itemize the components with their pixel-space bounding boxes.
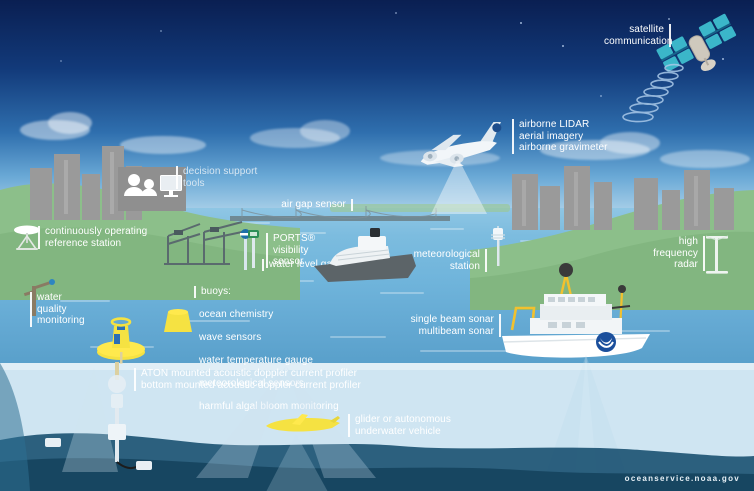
cargo-ship-icon <box>312 228 422 288</box>
buoys-item: wave sensors <box>199 332 369 344</box>
buoys-title: buoys: <box>201 286 231 297</box>
label-glider: glider or autonomous underwater vehicle <box>348 414 485 437</box>
label-sonar: single beam sonar multibeam sonar <box>396 314 501 337</box>
label-decision-support-tools: decision support tools <box>176 166 283 189</box>
hf-radar-tower-icon <box>700 230 734 278</box>
aton-mounted-adcp-icon <box>98 362 138 478</box>
port-crane-icon <box>160 218 246 268</box>
source-url: oceanservice.noaa.gov <box>625 474 740 483</box>
ports-visibility-sensor-icon <box>246 228 262 268</box>
label-air-gap-sensor: air gap sensor <box>262 199 353 211</box>
satellite-signal-icon <box>612 60 692 126</box>
buoy-icon-small <box>158 306 198 334</box>
bottom-mounted-adcp-icon <box>136 461 152 470</box>
label-continuously-operating-reference-station: continuously operating reference station <box>38 226 171 249</box>
buoys-item: ocean chemistry <box>199 309 369 321</box>
label-satellite-communication: satellite communication <box>604 24 671 47</box>
label-water-quality-monitoring: water quality monitoring <box>30 292 99 327</box>
buoy-icon <box>92 308 150 364</box>
glider-cone <box>250 434 360 491</box>
aircraft-scan-cone <box>425 158 495 214</box>
label-adcp: ATON mounted acoustic doppler current pr… <box>134 368 411 391</box>
bottom-mounted-adcp-icon-left <box>45 438 61 447</box>
label-airborne-lidar: airborne LIDAR aerial imagery airborne g… <box>512 119 639 154</box>
label-buoys: buoys: <box>194 286 361 298</box>
noaa-research-vessel-icon <box>500 256 670 364</box>
city-skyline-right <box>508 160 738 230</box>
infographic-canvas: satellite communication <box>0 0 754 491</box>
